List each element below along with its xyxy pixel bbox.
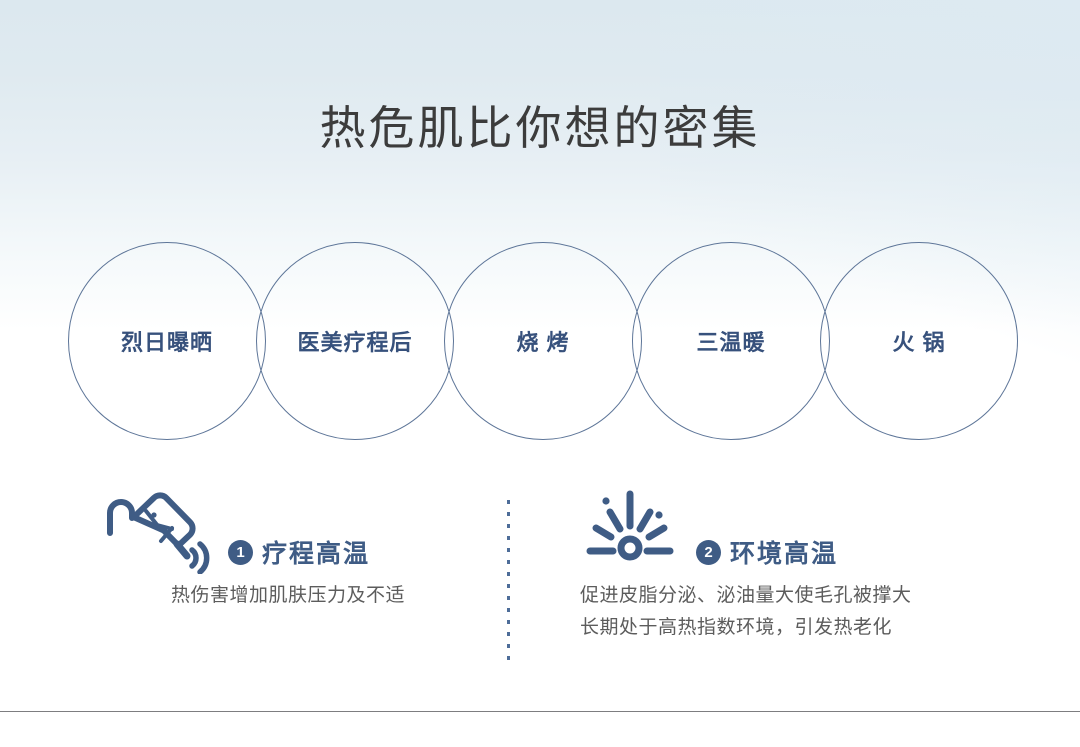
panel-title-line: 2 环境高温 — [696, 534, 838, 570]
panel-environment-heat: 2 环境高温 促进皮脂分泌、泌油量大使毛孔被撑大 长期处于高热指数环境，引发热老… — [580, 488, 1010, 644]
panel-heading: 环境高温 — [730, 534, 838, 570]
panel-description-line: 热伤害增加肌肤压力及不适 — [98, 580, 478, 612]
panel-description: 热伤害增加肌肤压力及不适 — [98, 580, 478, 612]
panel-header: 2 环境高温 — [580, 488, 1010, 574]
panel-treatment-heat: 1 疗程高温 热伤害增加肌肤压力及不适 — [104, 488, 484, 612]
page-title: 热危肌比你想的密集 — [0, 100, 1080, 156]
heat-trigger-circle-row: 烈日曝晒 医美疗程后 烧 烤 三温暖 火 锅 — [68, 242, 1018, 442]
vertical-dotted-divider — [507, 500, 510, 668]
badge-number: 1 — [228, 540, 253, 565]
circle-label: 烈日曝晒 — [121, 325, 213, 357]
infographic-page: 热危肌比你想的密集 烈日曝晒 医美疗程后 烧 烤 三温暖 火 锅 — [0, 0, 1080, 747]
heat-source-panels: 1 疗程高温 热伤害增加肌肤压力及不适 — [0, 488, 1080, 678]
heat-trigger-circle: 医美疗程后 — [256, 242, 454, 440]
panel-header: 1 疗程高温 — [104, 488, 484, 574]
heat-trigger-circle: 火 锅 — [820, 242, 1018, 440]
panel-heading: 疗程高温 — [262, 534, 370, 570]
heat-trigger-circle: 烈日曝晒 — [68, 242, 266, 440]
badge-number: 2 — [696, 540, 721, 565]
heat-trigger-circle: 三温暖 — [632, 242, 830, 440]
circle-label: 火 锅 — [892, 325, 945, 357]
heat-burst-icon — [580, 488, 680, 574]
panel-description-line: 长期处于高热指数环境，引发热老化 — [580, 612, 1010, 644]
panel-description-line: 促进皮脂分泌、泌油量大使毛孔被撑大 — [580, 580, 1010, 612]
heat-trigger-circle: 烧 烤 — [444, 242, 642, 440]
bottom-divider — [0, 711, 1080, 712]
circle-label: 医美疗程后 — [297, 325, 412, 357]
panel-title-line: 1 疗程高温 — [228, 534, 370, 570]
laser-handpiece-icon — [104, 488, 210, 574]
circle-label: 三温暖 — [696, 325, 765, 357]
circle-label: 烧 烤 — [516, 325, 569, 357]
panel-description: 促进皮脂分泌、泌油量大使毛孔被撑大 长期处于高热指数环境，引发热老化 — [580, 580, 1010, 644]
